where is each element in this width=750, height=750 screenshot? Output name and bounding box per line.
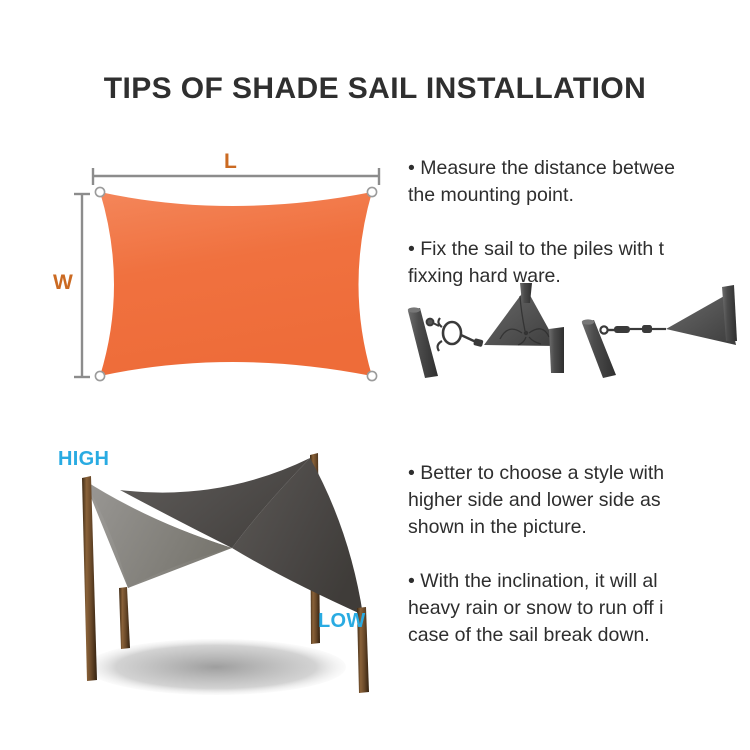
text-spacer [408,541,664,568]
page-title: TIPS OF SHADE SAIL INSTALLATION [0,72,750,106]
turnbuckle-icon [438,318,484,351]
sail-corner-triangle [484,288,558,346]
rectangular-sail-svg [60,140,400,400]
length-label: L [224,151,237,172]
top-instructions-text: • Measure the distance betwee the mounti… [408,155,675,290]
post-icon [582,320,616,378]
rectangular-sail-diagram [60,140,400,400]
sail-fabric [100,192,372,376]
bottom-instructions-text: • Better to choose a style with higher s… [408,460,664,649]
bullet-2-line-1: • Fix the sail to the piles with t [408,236,675,263]
high-label: HIGH [58,449,109,469]
turnbuckle-icon [614,325,666,333]
width-label: W [53,272,73,293]
hardware-left [408,283,564,378]
grommet-icon [367,371,376,380]
bullet-3-line-3: shown in the picture. [408,514,664,541]
bullet-4-line-2: heavy rain or snow to run off i [408,595,664,622]
bullet-4-line-1: • With the inclination, it will al [408,568,664,595]
hardware-illustrations [398,283,750,378]
hardware-svg [398,283,750,378]
two-sail-installation-diagram [20,430,410,715]
grommet-icon [367,187,376,196]
bullet-4-line-3: case of the sail break down. [408,622,664,649]
infographic-page: TIPS OF SHADE SAIL INSTALLATION [0,0,750,750]
bullet-3-line-1: • Better to choose a style with [408,460,664,487]
hardware-right [582,285,737,378]
mounting-plate-icon [549,327,564,373]
grommet-icon [95,187,104,196]
post-icon [408,308,438,378]
mounting-plate-icon [520,283,532,303]
grommet-icon [95,371,104,380]
post-icon [119,587,130,649]
bullet-3-line-2: higher side and lower side as [408,487,664,514]
text-spacer [408,209,675,236]
bullet-1-line-1: • Measure the distance betwee [408,155,675,182]
snap-hook-icon [600,326,615,333]
installation-svg [20,430,410,715]
snap-hook-icon [427,319,439,326]
low-label: LOW [318,611,366,631]
bullet-1-line-2: the mounting point. [408,182,675,209]
width-dimension-line [74,194,90,378]
